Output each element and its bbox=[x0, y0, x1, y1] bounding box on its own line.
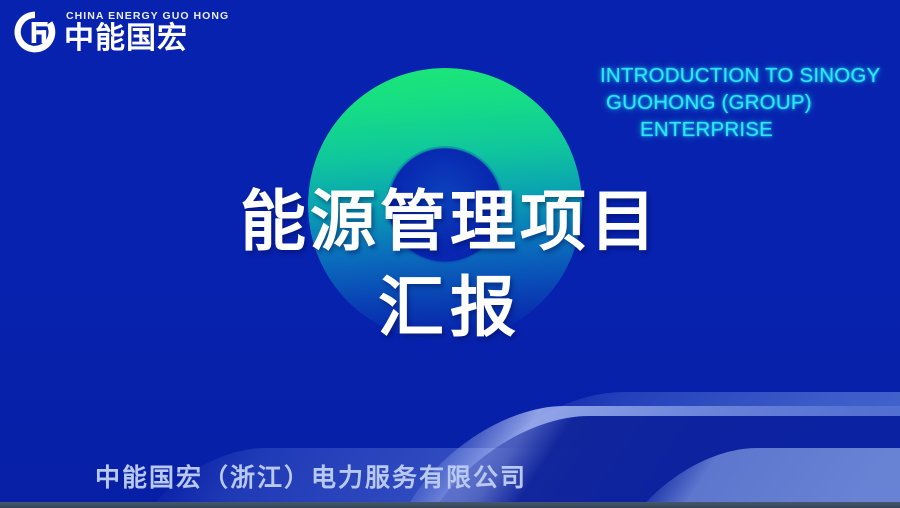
english-subtitle-line-1: INTRODUCTION TO SINOGY bbox=[600, 62, 900, 89]
english-subtitle-line-3: ENTERPRISE bbox=[600, 116, 900, 143]
logo-wordmark: CHINA ENERGY GUO HONG 中能国宏 bbox=[64, 10, 229, 55]
logo-chinese-name: 中能国宏 bbox=[64, 23, 229, 55]
logo-english-name: CHINA ENERGY GUO HONG bbox=[66, 10, 229, 23]
slide-bottom-edge-strip bbox=[0, 502, 900, 508]
company-name-footer: 中能国宏（浙江）电力服务有限公司 bbox=[95, 462, 527, 494]
slide-title-line-1: 能源管理项目 bbox=[240, 184, 660, 258]
english-subtitle-line-2: GUOHONG (GROUP) bbox=[600, 89, 900, 116]
presentation-slide: CHINA ENERGY GUO HONG 中能国宏 INTRODUCTION … bbox=[0, 0, 900, 508]
english-subtitle: INTRODUCTION TO SINOGY GUOHONG (GROUP) E… bbox=[600, 62, 900, 143]
guo-hong-circular-g-logo-icon bbox=[12, 9, 58, 55]
slide-title: 能源管理项目 汇报 bbox=[0, 178, 900, 350]
brand-logo: CHINA ENERGY GUO HONG 中能国宏 bbox=[12, 8, 229, 56]
slide-title-line-2: 汇报 bbox=[0, 264, 900, 350]
